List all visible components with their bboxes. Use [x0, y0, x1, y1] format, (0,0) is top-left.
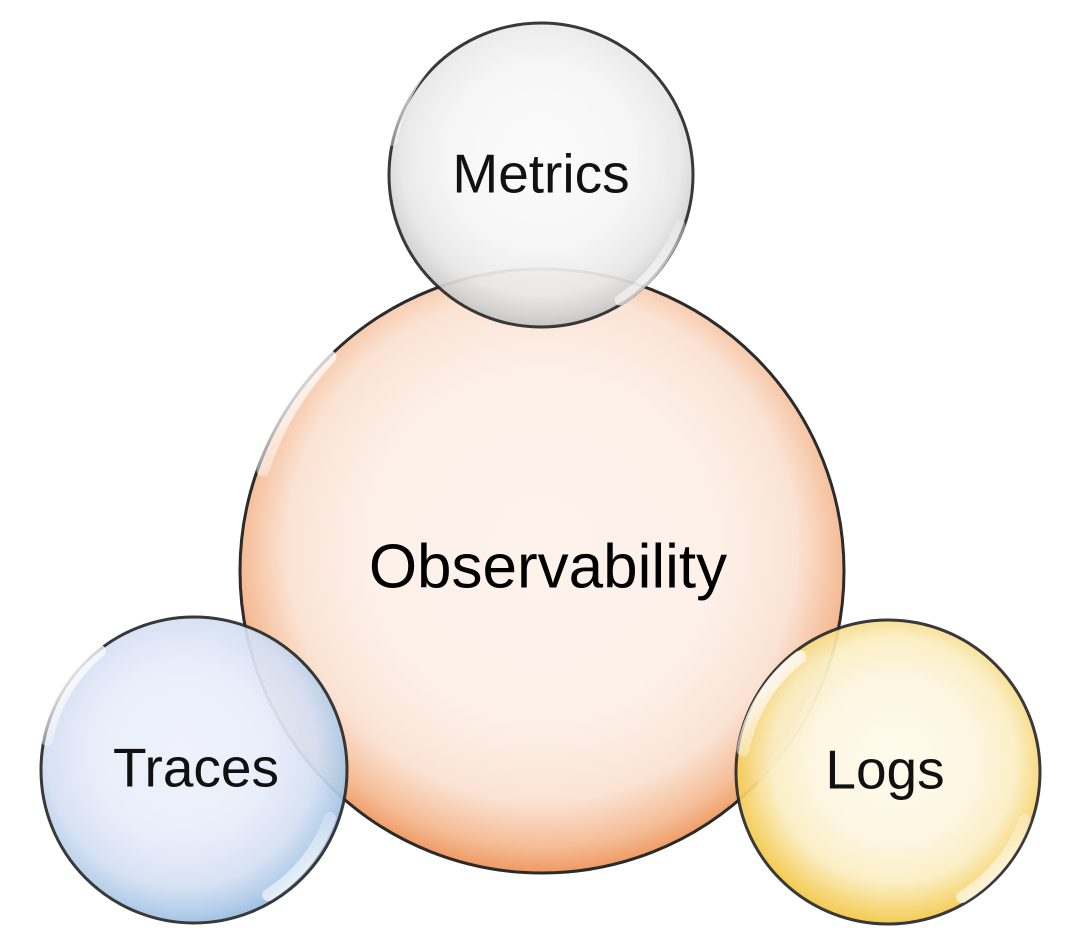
observability-label: Observability	[369, 532, 727, 601]
diagram-canvas: Observability Metrics Traces Logs	[0, 0, 1082, 942]
logs-label: Logs	[825, 739, 944, 801]
metrics-label: Metrics	[452, 143, 629, 205]
traces-label: Traces	[113, 737, 279, 799]
node-metrics[interactable]: Metrics	[389, 23, 693, 327]
node-traces[interactable]: Traces	[41, 617, 347, 923]
node-logs[interactable]: Logs	[736, 620, 1040, 924]
observability-diagram: Observability Metrics Traces Logs	[0, 0, 1082, 942]
